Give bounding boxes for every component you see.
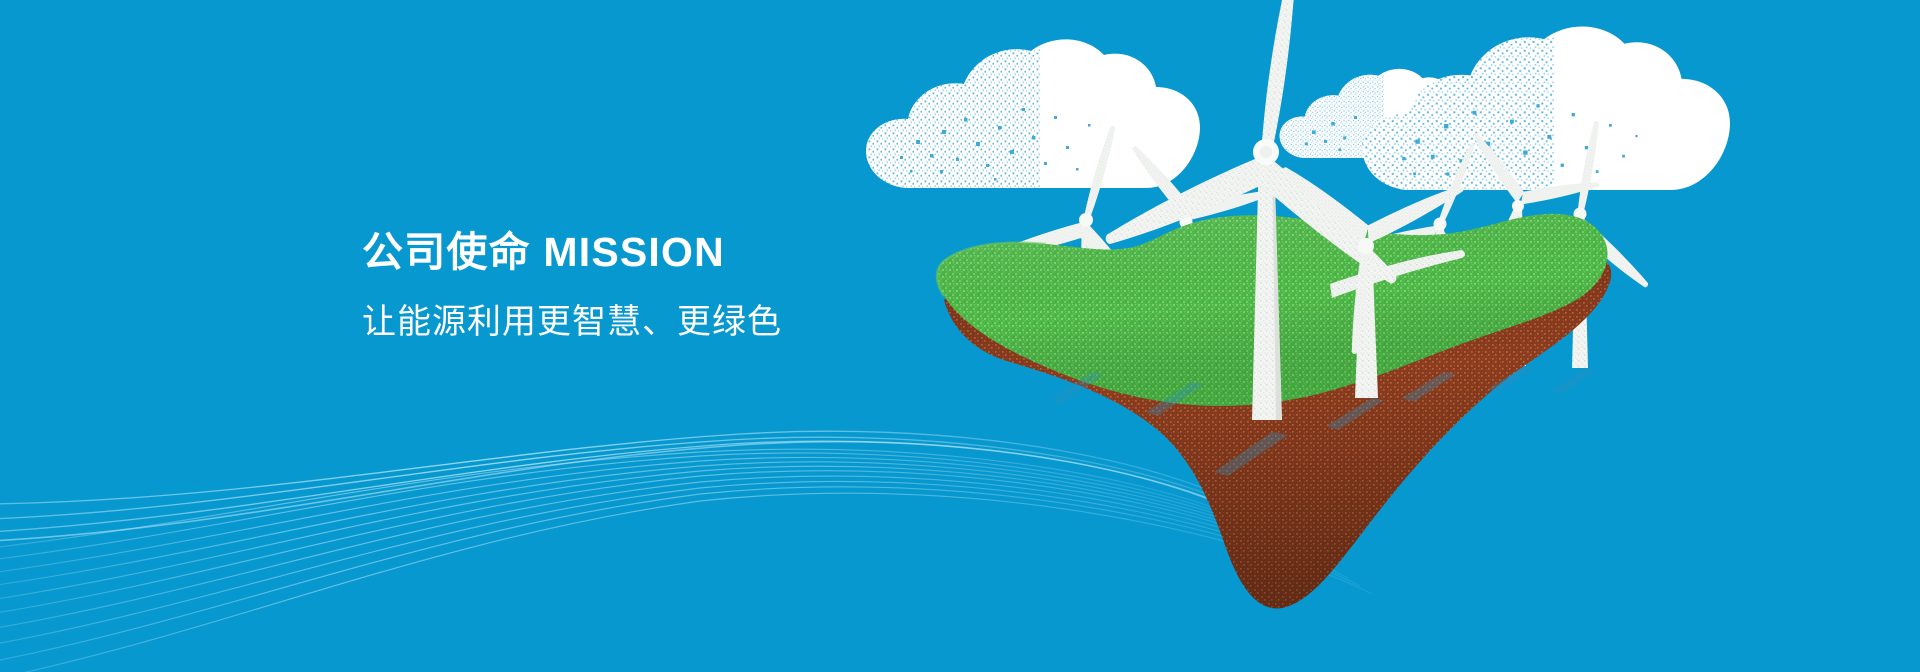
turbine-6 xyxy=(1425,133,1600,366)
turbine-7 xyxy=(1491,107,1674,368)
mission-banner: 公司使命 MISSION 让能源利用更智慧、更绿色 xyxy=(0,0,1920,672)
cloud-group xyxy=(866,27,1730,190)
mission-subtitle: 让能源利用更智慧、更绿色 xyxy=(362,302,1002,343)
page-title: 公司使命 MISSION xyxy=(362,230,1002,275)
floating-island xyxy=(937,214,1611,609)
island-soil xyxy=(944,260,1611,609)
turbine-ground-shadows xyxy=(1050,366,1596,476)
mission-text-block: 公司使命 MISSION 让能源利用更智慧、更绿色 xyxy=(362,230,1002,343)
island-grass xyxy=(937,214,1608,406)
turbine-4 xyxy=(1264,167,1464,398)
turbine-blade-tips-front xyxy=(1330,250,1465,298)
turbine-1 xyxy=(990,103,1192,372)
turbine-5 xyxy=(1351,115,1541,372)
turbine-2 xyxy=(1089,146,1273,382)
turbine-3 xyxy=(1105,0,1436,420)
